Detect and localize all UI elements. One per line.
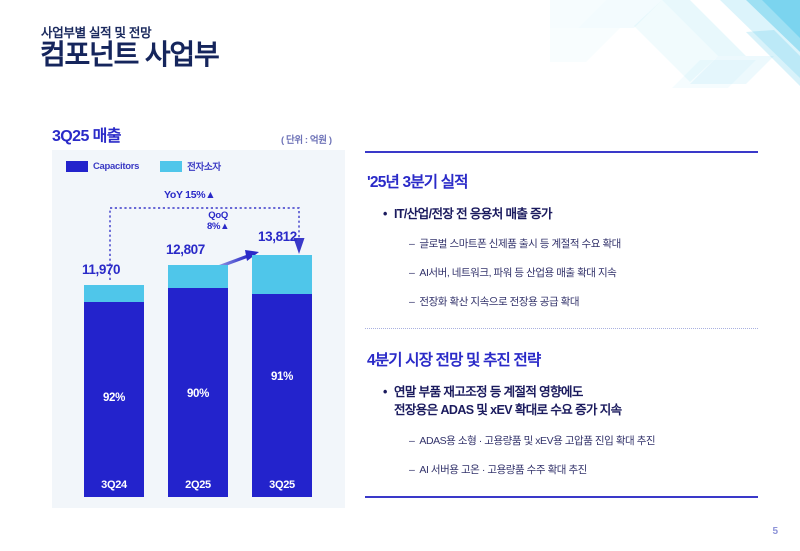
dash-icon: –	[409, 464, 414, 476]
chart-heading: 3Q25 매출	[52, 122, 121, 146]
bar-2q25: 90% 2Q25	[168, 265, 228, 497]
bar-share-label-3q24: 92%	[84, 392, 144, 404]
section-title-q4-outlook: 4분기 시장 전망 및 추진 전략	[367, 348, 540, 370]
subbullet-q4-1-text: ADAS용 소형 · 고용량품 및 xEV용 고압품 진입 확대 추진	[419, 435, 655, 447]
bar-segment-electronic-parts-3q24	[84, 285, 144, 302]
bullet-q3-main-text: IT/산업/전장 전 응용처 매출 증가	[394, 207, 552, 221]
bullet-dot-icon: •	[383, 383, 387, 401]
bar-segment-capacitors-2q25: 90% 2Q25	[168, 288, 228, 497]
slide-root: 사업부별 실적 및 전망 컴포넌트 사업부 3Q25 매출 ( 단위 : 억원 …	[0, 0, 800, 551]
right-panel-top-rule	[365, 151, 758, 153]
qoq-annotation-label: QoQ 8%▲	[207, 211, 229, 232]
yoy-annotation-label: YoY 15%▲	[164, 189, 215, 201]
subbullet-q3-1-text: 글로벌 스마트폰 신제품 출시 등 계절적 수요 확대	[419, 238, 620, 250]
bar-total-label-2q25: 12,807	[166, 242, 205, 257]
dash-icon: –	[409, 296, 414, 308]
subbullet-q3-2-text: AI서버, 네트워크, 파워 등 산업용 매출 확대 지속	[419, 267, 616, 279]
bar-total-label-3q25: 13,812	[258, 229, 297, 244]
bar-segment-electronic-parts-2q25	[168, 265, 228, 288]
qoq-label-line1: QoQ	[208, 210, 228, 221]
subbullet-q4-2: –AI 서버용 고온 · 고용량품 수주 확대 추진	[409, 462, 587, 477]
section-title-q3-results: '25년 3분기 실적	[367, 170, 468, 192]
bar-segment-capacitors-3q24: 92% 3Q24	[84, 302, 144, 497]
subbullet-q3-3: –전장화 확산 지속으로 전장용 공급 확대	[409, 294, 579, 309]
bar-3q25: 91% 3Q25	[252, 255, 312, 497]
right-panel-bottom-rule	[365, 496, 758, 498]
page-number: 5	[772, 526, 778, 537]
bar-3q24: 92% 3Q24	[84, 285, 144, 497]
subbullet-q3-2: –AI서버, 네트워크, 파워 등 산업용 매출 확대 지속	[409, 265, 616, 280]
right-panel-dotted-divider	[365, 328, 758, 329]
bar-category-label-2q25: 2Q25	[168, 479, 228, 491]
subbullet-q3-1: –글로벌 스마트폰 신제품 출시 등 계절적 수요 확대	[409, 236, 621, 251]
bar-category-label-3q25: 3Q25	[252, 479, 312, 491]
bar-share-label-2q25: 90%	[168, 388, 228, 400]
chart-plot-area: YoY 15%▲ QoQ 8%▲ 11,970 12,807 13,812	[52, 150, 345, 508]
subbullet-q4-2-text: AI 서버용 고온 · 고용량품 수주 확대 추진	[419, 464, 587, 476]
bullet-q4-main: • 연말 부품 재고조정 등 계절적 영향에도 전장용은 ADAS 및 xEV …	[394, 383, 622, 419]
bullet-q3-main: • IT/산업/전장 전 응용처 매출 증가	[394, 205, 552, 223]
qoq-label-line2: 8%▲	[207, 221, 229, 232]
bar-segment-capacitors-3q25: 91% 3Q25	[252, 294, 312, 497]
chart-unit-label: ( 단위 : 억원 )	[281, 132, 332, 146]
page-title: 컴포넌트 사업부	[40, 39, 219, 71]
chart-card: Capacitors 전자소자 YoY 15%▲	[52, 150, 345, 508]
bullet-q4-main-line1: 연말 부품 재고조정 등 계절적 영향에도	[394, 385, 583, 399]
dash-icon: –	[409, 435, 414, 447]
dash-icon: –	[409, 267, 414, 279]
bar-category-label-3q24: 3Q24	[84, 479, 144, 491]
bullet-dot-icon: •	[383, 205, 387, 223]
subbullet-q4-1: –ADAS용 소형 · 고용량품 및 xEV용 고압품 진입 확대 추진	[409, 433, 655, 448]
bullet-q4-main-line2: 전장용은 ADAS 및 xEV 확대로 수요 증가 지속	[394, 403, 622, 417]
dash-icon: –	[409, 238, 414, 250]
subbullet-q3-3-text: 전장화 확산 지속으로 전장용 공급 확대	[419, 296, 579, 308]
bar-segment-electronic-parts-3q25	[252, 255, 312, 294]
decorative-geometric-pattern	[550, 0, 800, 95]
bar-total-label-3q24: 11,970	[82, 262, 120, 277]
bar-share-label-3q25: 91%	[252, 371, 312, 383]
